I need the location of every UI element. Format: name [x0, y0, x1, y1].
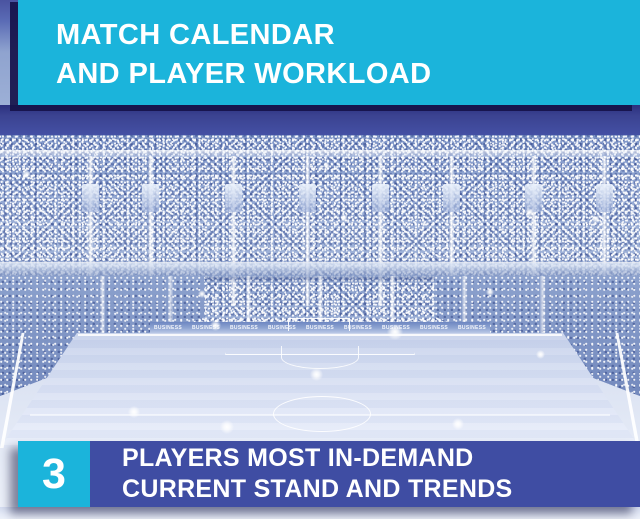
pylon-head	[372, 184, 389, 212]
pylon-head	[225, 184, 242, 212]
section-number-badge: 3	[18, 441, 90, 507]
pitch-center-circle	[273, 396, 371, 432]
pylon-head	[443, 184, 460, 212]
floodlight-pylon	[231, 156, 236, 306]
pylon-head	[82, 184, 99, 212]
pitch-penalty-arc	[281, 346, 359, 369]
ad-board-text: BUSINESS	[420, 325, 448, 331]
ad-board-text: BUSINESS	[154, 325, 182, 331]
header-banner: MATCH CALENDAR AND PLAYER WORKLOAD	[18, 0, 640, 105]
pylon-head	[596, 184, 613, 212]
section-title-block: PLAYERS MOST IN-DEMAND CURRENT STAND AND…	[90, 441, 640, 507]
header-title-line-1: MATCH CALENDAR	[56, 16, 640, 55]
section-title-line-2: CURRENT STAND AND TRENDS	[122, 474, 640, 505]
slide-canvas: BUSINESS BUSINESS BUSINESS BUSINESS BUSI…	[0, 0, 640, 519]
goal-frame	[288, 318, 350, 331]
section-banner: 3 PLAYERS MOST IN-DEMAND CURRENT STAND A…	[18, 441, 640, 507]
top-accent-band	[0, 105, 640, 135]
section-number: 3	[42, 453, 66, 496]
floodlight-pylon	[305, 156, 310, 306]
pylon-head	[299, 184, 316, 212]
stadium-tier-divider-beam	[0, 262, 640, 277]
header-title-line-2: AND PLAYER WORKLOAD	[56, 55, 640, 94]
ad-board-text: BUSINESS	[382, 325, 410, 331]
ad-board-text: BUSINESS	[192, 325, 220, 331]
pylon-head	[142, 184, 159, 212]
ad-board-text: BUSINESS	[458, 325, 486, 331]
ad-board-text: BUSINESS	[230, 325, 258, 331]
section-title-line-1: PLAYERS MOST IN-DEMAND	[122, 443, 640, 474]
pylon-head	[525, 184, 542, 212]
bottom-pitch-strip	[0, 507, 640, 519]
floodlight-pylon	[378, 156, 383, 306]
stadium-roof-beam	[0, 150, 640, 157]
